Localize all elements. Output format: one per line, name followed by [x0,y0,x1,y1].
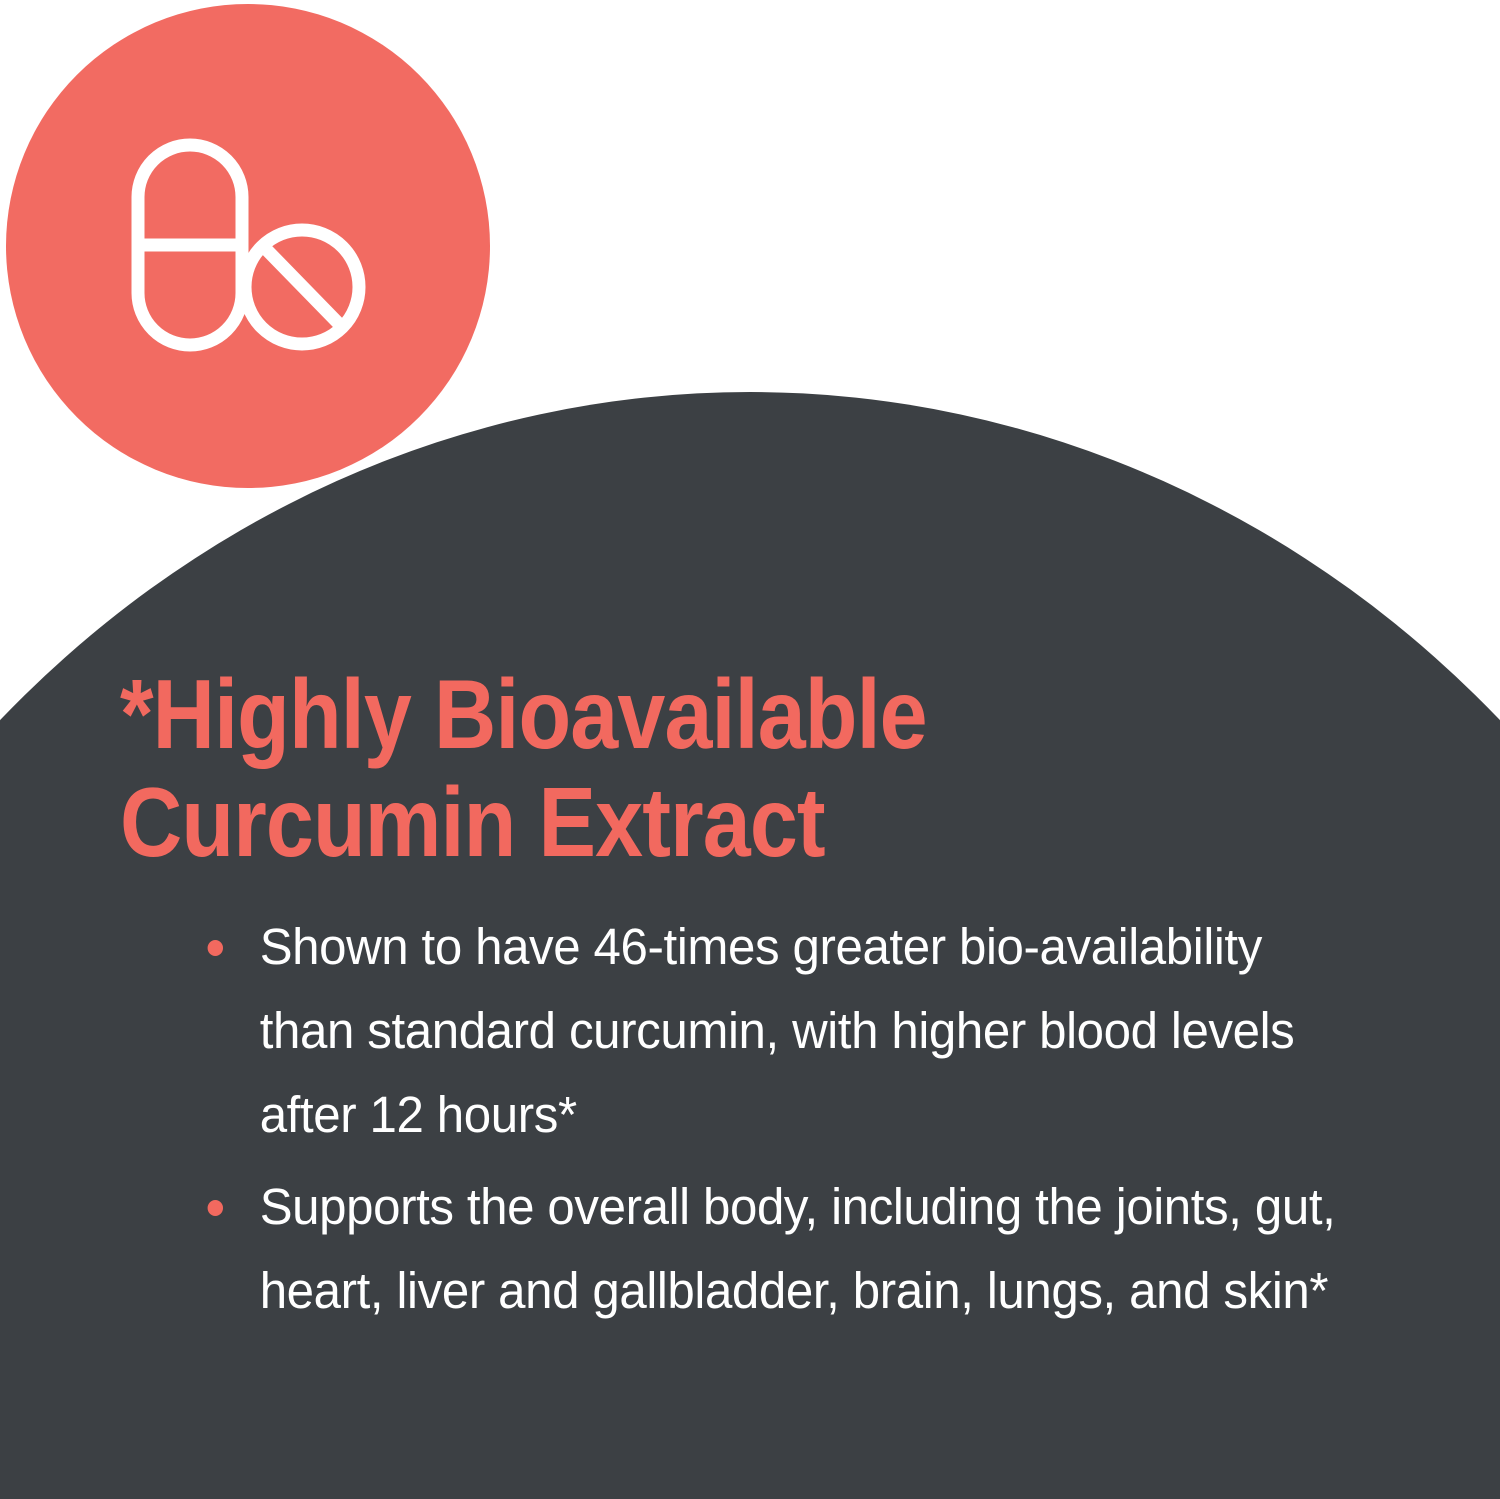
list-item-label: Shown to have 46-times greater bio-avail… [260,918,1295,1143]
list-item-label: Supports the overall body, including the… [260,1178,1336,1319]
list-item: Supports the overall body, including the… [196,1165,1354,1333]
text-content: *Highly Bioavailable Curcumin Extract Sh… [0,0,1500,1499]
bullet-dot-icon [208,940,223,956]
benefit-list: Shown to have 46-times greater bio-avail… [196,905,1396,1341]
bullet-dot-icon [208,1200,223,1216]
product-feature-card: *Highly Bioavailable Curcumin Extract Sh… [0,0,1500,1499]
page-title: *Highly Bioavailable Curcumin Extract [120,660,1053,876]
list-item: Shown to have 46-times greater bio-avail… [196,905,1354,1157]
